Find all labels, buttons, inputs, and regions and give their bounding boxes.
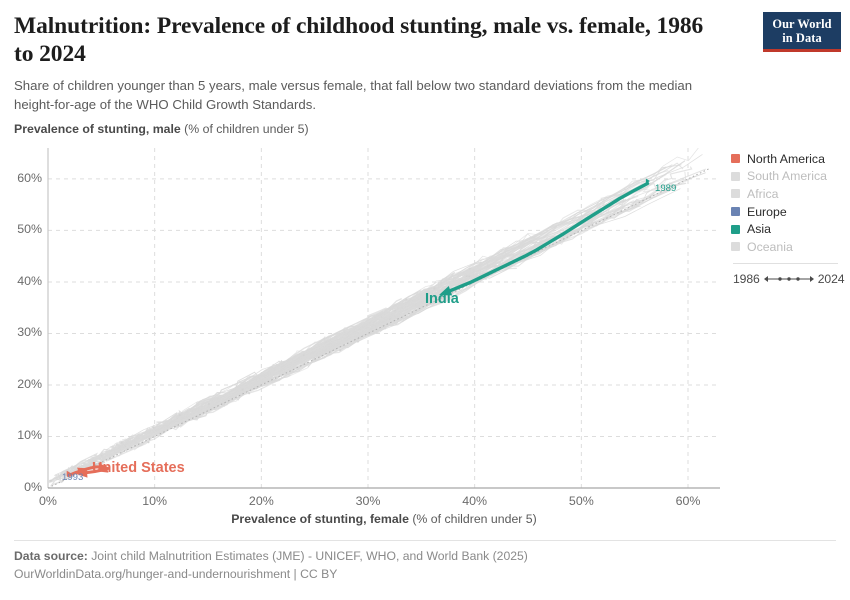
background-country-line xyxy=(279,299,401,367)
background-country-line xyxy=(94,405,195,460)
background-country-line xyxy=(120,182,639,443)
y-tick-label: 30% xyxy=(2,325,42,339)
background-endpoint-marker xyxy=(152,427,154,429)
legend-item-oceania[interactable]: Oceania xyxy=(731,238,847,256)
chart-subtitle: Share of children younger than 5 years, … xyxy=(14,77,714,114)
background-endpoint-marker xyxy=(380,316,382,318)
background-country-line xyxy=(340,301,442,350)
background-endpoint-marker xyxy=(134,442,136,444)
y-tick-label: 60% xyxy=(2,171,42,185)
background-endpoint-marker xyxy=(49,480,51,482)
background-endpoint-marker xyxy=(264,375,266,377)
background-endpoint-marker xyxy=(194,411,196,413)
background-country-line xyxy=(442,201,639,297)
background-endpoint-marker xyxy=(183,417,185,419)
background-country-line xyxy=(246,358,314,394)
background-endpoint-marker xyxy=(313,356,315,358)
background-endpoint-marker xyxy=(253,384,255,386)
background-country-line xyxy=(402,245,545,309)
background-country-line xyxy=(256,246,552,388)
background-country-line xyxy=(329,230,572,347)
background-country-line xyxy=(385,163,683,310)
background-country-line xyxy=(207,389,243,413)
highlighted-country-lines[interactable] xyxy=(67,179,650,479)
background-endpoint-marker xyxy=(223,400,225,402)
background-endpoint-marker xyxy=(339,349,341,351)
background-country-line xyxy=(236,306,404,387)
background-country-line xyxy=(253,155,702,379)
background-country-line xyxy=(307,194,620,351)
background-country-line xyxy=(439,238,558,295)
background-country-line xyxy=(135,297,441,450)
background-country-line xyxy=(189,259,510,417)
background-endpoint-marker xyxy=(223,403,225,405)
background-country-line xyxy=(153,408,199,428)
background-country-line xyxy=(240,325,369,390)
background-endpoint-marker xyxy=(252,378,254,380)
background-country-line xyxy=(291,200,625,363)
background-country-line xyxy=(234,320,375,389)
background-endpoint-marker xyxy=(130,444,132,446)
background-endpoint-marker xyxy=(326,341,328,343)
background-country-line xyxy=(201,161,685,409)
background-country-line xyxy=(158,189,681,437)
background-country-line xyxy=(243,249,508,382)
background-endpoint-marker xyxy=(127,442,129,444)
background-endpoint-marker xyxy=(469,268,471,270)
y-axis-title: Prevalence of stunting, male (% of child… xyxy=(14,122,309,136)
background-endpoint-marker xyxy=(290,362,292,364)
background-country-line xyxy=(131,309,395,445)
gridlines xyxy=(48,148,720,488)
background-country-line xyxy=(109,352,330,455)
background-country-line xyxy=(174,391,244,425)
legend-item-label: South America xyxy=(747,169,827,183)
background-endpoint-marker xyxy=(167,425,169,427)
time-scale-legend: 1986 2024 xyxy=(733,272,844,286)
background-country-line xyxy=(259,278,447,378)
background-country-line xyxy=(174,223,557,421)
data-source-line: Data source: Joint child Malnutrition Es… xyxy=(14,548,834,566)
x-tick-label: 40% xyxy=(445,494,505,508)
y-axis-title-unit: (% of children under 5) xyxy=(181,122,309,136)
background-country-line xyxy=(135,343,344,443)
background-country-line xyxy=(120,420,177,446)
background-endpoint-marker xyxy=(349,334,351,336)
legend-item-asia[interactable]: Asia xyxy=(731,220,847,238)
background-endpoint-marker xyxy=(127,448,129,450)
background-country-line xyxy=(89,399,226,467)
background-endpoint-marker xyxy=(389,318,391,320)
background-country-line xyxy=(156,299,443,431)
background-endpoint-marker xyxy=(272,367,274,369)
background-endpoint-marker xyxy=(272,369,274,371)
background-endpoint-marker xyxy=(119,448,121,450)
background-country-line xyxy=(184,378,270,418)
background-country-line xyxy=(146,410,195,432)
legend-item-north-america[interactable]: North America xyxy=(731,150,847,168)
background-country-line xyxy=(173,342,333,423)
background-endpoint-marker xyxy=(242,388,244,390)
background-endpoint-marker xyxy=(124,445,126,447)
background-country-line xyxy=(107,326,386,455)
background-endpoint-marker xyxy=(488,274,490,276)
background-country-line xyxy=(274,193,660,380)
x-tick-label: 0% xyxy=(18,494,78,508)
background-country-line xyxy=(128,353,315,449)
background-endpoint-marker xyxy=(433,288,435,290)
background-endpoint-marker xyxy=(128,446,130,448)
x-axis-title-bold: Prevalence of stunting, female xyxy=(231,512,409,526)
legend-item-label: North America xyxy=(747,152,825,166)
background-country-line xyxy=(307,188,657,361)
background-country-line xyxy=(350,265,488,335)
background-country-line xyxy=(376,258,499,318)
y-tick-label: 50% xyxy=(2,222,42,236)
background-country-line xyxy=(188,240,535,411)
x-axis-title: Prevalence of stunting, female (% of chi… xyxy=(48,512,720,526)
y-tick-label: 10% xyxy=(2,428,42,442)
background-country-line xyxy=(116,391,243,448)
background-country-line xyxy=(129,329,354,443)
background-endpoint-marker xyxy=(155,430,157,432)
legend-item-label: Asia xyxy=(747,222,771,236)
background-country-line xyxy=(162,214,596,433)
background-country-line xyxy=(142,395,220,433)
background-endpoint-marker xyxy=(248,392,250,394)
background-endpoint-marker xyxy=(374,317,376,319)
background-country-line xyxy=(126,398,217,444)
background-endpoint-marker xyxy=(312,359,314,361)
background-country-line xyxy=(327,203,605,343)
time-legend-start: 1986 xyxy=(733,272,760,286)
background-country-line xyxy=(206,291,445,407)
background-country-line xyxy=(273,323,364,374)
background-country-line xyxy=(338,216,584,342)
legend-item-africa[interactable]: Africa xyxy=(731,185,847,203)
background-country-line xyxy=(314,300,431,361)
footer-divider xyxy=(14,540,836,541)
time-arrow-icon xyxy=(762,274,816,284)
data-source-text: Joint child Malnutrition Estimates (JME)… xyxy=(88,549,528,563)
background-country-line xyxy=(304,183,651,355)
background-endpoint-marker xyxy=(101,455,103,457)
background-endpoint-marker xyxy=(187,410,189,412)
owid-logo[interactable]: Our World in Data xyxy=(763,12,841,52)
background-endpoint-marker xyxy=(134,445,136,447)
background-country-line xyxy=(295,274,478,362)
chart-footer: Data source: Joint child Malnutrition Es… xyxy=(14,548,834,583)
background-endpoint-marker xyxy=(405,298,407,300)
background-endpoint-marker xyxy=(176,417,178,419)
background-endpoint-marker xyxy=(353,339,355,341)
parity-reference-line xyxy=(48,169,709,488)
background-country-line xyxy=(102,437,133,456)
background-endpoint-marker xyxy=(292,371,294,373)
background-country-line xyxy=(298,196,638,356)
background-country-line xyxy=(313,240,528,348)
background-endpoint-marker xyxy=(466,275,468,277)
background-country-line xyxy=(96,411,195,464)
background-country-line xyxy=(112,206,607,455)
background-country-line xyxy=(95,415,186,465)
series-start-marker xyxy=(646,179,650,184)
background-country-line xyxy=(265,249,525,376)
background-endpoint-marker xyxy=(255,387,257,389)
legend-swatch-icon xyxy=(731,189,740,198)
background-endpoint-marker xyxy=(251,386,253,388)
background-country-line xyxy=(216,251,523,404)
background-country-line xyxy=(266,344,323,378)
background-country-line xyxy=(148,184,664,433)
background-country-line xyxy=(119,434,145,450)
background-endpoint-marker xyxy=(357,340,359,342)
background-country-lines xyxy=(49,147,705,486)
legend-item-label: Oceania xyxy=(747,240,793,254)
background-country-line xyxy=(469,175,666,276)
legend-swatch-icon xyxy=(731,242,740,251)
background-country-line xyxy=(96,392,231,458)
background-country-line xyxy=(94,295,446,468)
background-country-line xyxy=(276,291,434,365)
background-endpoint-marker xyxy=(173,421,175,423)
legend-item-europe[interactable]: Europe xyxy=(731,203,847,221)
background-endpoint-marker xyxy=(468,275,470,277)
x-axis-title-unit: (% of children under 5) xyxy=(409,512,537,526)
x-tick-label: 20% xyxy=(231,494,291,508)
background-country-line xyxy=(145,410,199,442)
continent-legend[interactable]: North AmericaSouth AmericaAfricaEuropeAs… xyxy=(731,150,847,256)
background-country-line xyxy=(434,189,649,288)
legend-item-label: Europe xyxy=(747,205,787,219)
background-country-line xyxy=(250,269,478,384)
background-endpoint-marker xyxy=(197,416,199,418)
background-country-line xyxy=(577,167,692,223)
background-country-line xyxy=(233,315,405,394)
background-country-line xyxy=(271,314,384,370)
chart-page: Malnutrition: Prevalence of childhood st… xyxy=(0,0,850,600)
background-endpoint-marker xyxy=(112,454,114,456)
background-endpoint-marker xyxy=(147,441,149,443)
background-country-line xyxy=(96,336,357,467)
data-source-label: Data source: xyxy=(14,549,88,563)
background-country-line xyxy=(252,289,436,385)
background-endpoint-marker xyxy=(410,299,412,301)
x-tick-label: 30% xyxy=(338,494,398,508)
y-tick-label: 40% xyxy=(2,274,42,288)
background-country-line xyxy=(308,255,510,353)
background-endpoint-marker xyxy=(50,480,52,482)
page-title: Malnutrition: Prevalence of childhood st… xyxy=(14,12,714,68)
parity-line xyxy=(48,169,709,488)
legend-swatch-icon xyxy=(731,172,740,181)
y-tick-label: 0% xyxy=(2,480,42,494)
background-endpoint-marker xyxy=(419,297,421,299)
background-country-line xyxy=(190,369,300,421)
chart-header: Malnutrition: Prevalence of childhood st… xyxy=(14,12,714,114)
background-country-line xyxy=(181,243,555,426)
legend-swatch-icon xyxy=(731,225,740,234)
background-endpoint-marker xyxy=(232,393,234,395)
country-line-india[interactable] xyxy=(445,184,648,293)
background-country-line xyxy=(175,367,295,427)
background-country-line xyxy=(254,290,448,389)
x-tick-label: 10% xyxy=(125,494,185,508)
endpoint-year-united-states: 1993 xyxy=(62,472,83,483)
background-country-line xyxy=(197,165,672,411)
background-endpoint-marker xyxy=(413,305,415,307)
background-country-line xyxy=(344,176,695,343)
x-tick-label: 50% xyxy=(551,494,611,508)
background-endpoint-marker xyxy=(359,326,361,328)
background-country-line xyxy=(120,290,421,449)
time-legend-end: 2024 xyxy=(818,272,845,286)
background-country-line xyxy=(349,190,672,337)
background-country-line xyxy=(122,413,180,445)
background-country-line xyxy=(125,302,400,446)
background-country-line xyxy=(180,325,371,415)
background-endpoint-marker xyxy=(164,428,166,430)
background-country-line xyxy=(358,222,596,342)
background-country-line xyxy=(209,342,336,404)
endpoint-year-india: 1989 xyxy=(655,183,676,194)
background-endpoint-marker xyxy=(347,332,349,334)
background-country-line xyxy=(163,315,408,430)
legend-item-label: Africa xyxy=(747,187,778,201)
background-endpoint-marker xyxy=(174,425,176,427)
background-country-line xyxy=(224,302,436,404)
background-country-line xyxy=(176,343,326,421)
x-tick-label: 60% xyxy=(658,494,718,508)
y-tick-label: 20% xyxy=(2,377,42,391)
legend-swatch-icon xyxy=(731,207,740,216)
legend-swatch-icon xyxy=(731,154,740,163)
background-country-line xyxy=(129,427,158,447)
background-country-line xyxy=(94,422,175,458)
background-country-line xyxy=(355,199,630,341)
owid-logo-line2: in Data xyxy=(769,31,835,45)
background-country-line xyxy=(184,322,369,419)
background-endpoint-marker xyxy=(270,369,272,371)
background-country-line xyxy=(73,365,285,474)
background-endpoint-marker xyxy=(303,354,305,356)
owid-logo-line1: Our World xyxy=(769,17,835,31)
background-country-line xyxy=(420,165,681,299)
background-country-line xyxy=(372,268,475,320)
legend-divider xyxy=(733,263,838,264)
background-country-line xyxy=(113,244,521,455)
background-country-line xyxy=(167,349,309,424)
background-endpoint-marker xyxy=(179,414,181,416)
background-country-line xyxy=(224,262,501,402)
background-country-line xyxy=(179,168,666,416)
background-endpoint-marker xyxy=(394,310,396,312)
series-label-united-states[interactable]: United States xyxy=(92,460,185,476)
legend-item-south-america[interactable]: South America xyxy=(731,168,847,186)
background-country-line xyxy=(243,268,496,390)
background-country-line xyxy=(467,197,635,276)
background-country-line xyxy=(149,401,220,436)
background-country-line xyxy=(177,361,282,418)
background-endpoint-marker xyxy=(253,387,255,389)
background-country-line xyxy=(274,304,412,370)
background-country-line xyxy=(252,305,420,387)
background-endpoint-marker xyxy=(121,442,123,444)
background-country-line xyxy=(303,276,456,356)
background-country-line xyxy=(348,227,556,333)
background-country-line xyxy=(169,327,376,426)
background-country-line xyxy=(115,409,194,451)
background-country-line xyxy=(162,385,246,431)
background-country-line xyxy=(100,442,125,459)
background-country-line xyxy=(185,314,403,419)
series-label-india[interactable]: India xyxy=(425,291,459,307)
background-country-line xyxy=(122,189,641,443)
background-country-line xyxy=(150,364,273,431)
background-country-line xyxy=(470,147,700,269)
background-endpoint-marker xyxy=(173,419,175,421)
background-country-line xyxy=(109,212,601,455)
background-country-line xyxy=(524,180,665,252)
background-endpoint-marker xyxy=(208,403,210,405)
background-country-line xyxy=(247,335,352,390)
source-link-line[interactable]: OurWorldinData.org/hunger-and-undernouri… xyxy=(14,566,834,584)
y-axis-title-bold: Prevalence of stunting, male xyxy=(14,122,181,136)
background-country-line xyxy=(489,205,637,274)
background-country-line xyxy=(106,435,133,453)
background-country-line xyxy=(360,200,623,330)
